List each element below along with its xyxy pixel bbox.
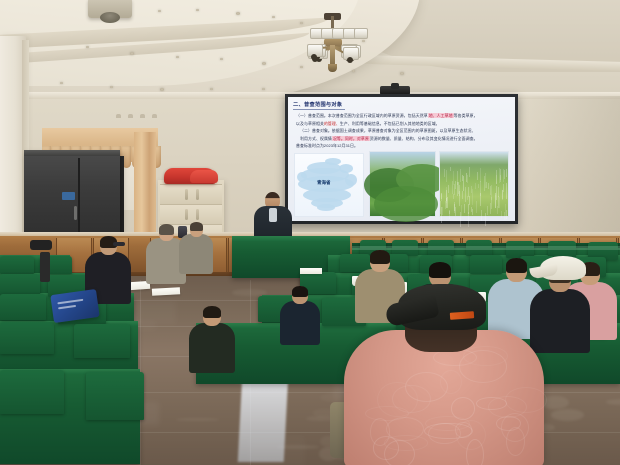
head-table-top <box>232 236 350 241</box>
attendee-photographer-hair <box>190 222 203 231</box>
grass-blade <box>486 182 487 188</box>
grass-blade <box>506 183 507 198</box>
grass-blade <box>448 185 449 193</box>
chandelier-bulb <box>347 57 353 63</box>
grass-blade <box>453 171 454 185</box>
jacket-texture <box>455 422 473 437</box>
grass-blade <box>447 197 448 208</box>
attendee-back-2-body <box>189 323 235 373</box>
attendee-white-cap-body <box>530 289 590 353</box>
grass-blade <box>455 207 456 216</box>
grass-blade <box>496 170 497 185</box>
conference-room-photo: 二、普查范围与对象 （一）普查范围。本次普查范围为全区行政区域内的草原资源，包括… <box>0 0 620 465</box>
map-region <box>345 174 357 186</box>
grass-blade <box>478 184 479 188</box>
grass-blade <box>464 204 465 214</box>
grass-blade <box>441 194 442 201</box>
grass-blade <box>469 167 470 177</box>
glasses-icon <box>113 242 125 246</box>
grass-blade <box>475 183 476 189</box>
tall-grass-field-photo <box>439 151 509 217</box>
green-chair-left <box>74 324 130 358</box>
grass-blade <box>476 201 477 212</box>
attendee-mid-2-hair <box>429 262 451 278</box>
grass-blade <box>498 187 499 197</box>
filing-drawer-handle <box>185 209 188 220</box>
slide-text-line: 普查标准时点为2023年12月31日。 <box>296 144 358 148</box>
filing-drawer-handle <box>196 189 199 200</box>
grass-blade <box>490 186 491 195</box>
grass-blade <box>461 205 462 216</box>
jacket-texture <box>377 382 417 418</box>
green-chair-left <box>0 274 40 296</box>
grass-blade <box>497 206 498 214</box>
slide-heading: 二、普查范围与对象 <box>293 101 342 108</box>
grass-blade <box>472 209 473 216</box>
table-glow <box>352 246 620 250</box>
grass-blade <box>444 169 445 177</box>
paper-documents <box>152 287 180 295</box>
chandelier-bottom-finial <box>328 64 337 72</box>
attendee-photographer-body <box>179 234 213 274</box>
grass-blade <box>468 187 469 197</box>
grass-blade <box>477 172 478 181</box>
grass-blade <box>466 173 467 182</box>
grass-blade <box>469 196 470 204</box>
jacket-texture <box>459 350 507 382</box>
grass-blade <box>501 211 502 219</box>
grass-blade <box>455 181 456 189</box>
grass-blade <box>459 185 460 196</box>
grass-blade <box>506 169 507 177</box>
green-chair-left <box>0 370 64 414</box>
wardrobe-top <box>24 150 120 156</box>
grass-blade <box>442 207 443 215</box>
slide-text-line: 利用方式、权属情况等。同时，对草原资源的数量、质量、结构、分布及其变化情况进行全… <box>300 137 478 141</box>
map-region <box>317 204 335 211</box>
wall-hook <box>116 114 121 118</box>
grass-blade <box>504 212 505 220</box>
floor-reflection-highlight <box>238 376 289 462</box>
grass-blade <box>480 193 481 207</box>
attendee-mid-3-hair <box>506 258 527 273</box>
floor-reflection <box>135 321 157 330</box>
green-chair <box>470 255 502 274</box>
grass-blade <box>484 176 485 191</box>
filing-drawer <box>160 184 222 204</box>
jacket-texture <box>384 440 416 465</box>
grass-blade <box>449 211 450 219</box>
floor-vein <box>551 409 584 421</box>
grass-blade <box>463 176 464 191</box>
green-chair-left <box>0 256 34 274</box>
grass-blade <box>491 185 492 201</box>
green-chair-left <box>86 372 144 420</box>
grass-blade <box>485 213 486 227</box>
green-chair-left <box>0 294 46 320</box>
grass-blade <box>462 191 463 199</box>
grass-blade <box>500 169 501 182</box>
wall-hook <box>128 114 133 118</box>
wardrobe-handle <box>74 206 77 220</box>
chandelier-bulb <box>311 54 317 60</box>
chandelier-shade-upper <box>354 28 368 39</box>
wardrobe-sticker <box>62 192 75 200</box>
grass-blade <box>446 170 447 182</box>
map-region <box>325 158 341 165</box>
wall-hook <box>152 114 157 118</box>
grass-blade <box>487 206 488 216</box>
filing-drawer-handle <box>185 189 188 200</box>
tripod-leg <box>40 252 50 282</box>
projector-lens-icon <box>100 12 120 23</box>
green-chair-left <box>0 322 54 354</box>
map-region <box>297 172 307 182</box>
slide-heading-underline <box>293 109 345 110</box>
paper-documents <box>300 268 322 274</box>
filing-drawer <box>160 204 222 224</box>
grass-blade <box>454 202 455 214</box>
jacket-texture <box>466 439 484 465</box>
province-map-outline: 青海省 <box>294 153 364 217</box>
attendee-mid-1-hair <box>370 250 390 264</box>
map-region <box>339 164 353 173</box>
map-label: 青海省 <box>317 180 331 186</box>
grass-blade <box>468 212 469 227</box>
attendee-left-2-hair <box>159 224 174 235</box>
jacket-texture <box>440 370 462 394</box>
grass-blade <box>480 168 481 182</box>
slide-text-line: 以及与草原相关的管理、生产、利用等基础信息，不包括已划入其他地类的区域。 <box>296 122 440 126</box>
grass-blade <box>490 203 491 214</box>
grass-blade <box>503 184 504 193</box>
grass-blade <box>460 169 461 182</box>
attendee-back-2-hair <box>203 306 221 318</box>
attendee-back-1-hair <box>292 286 308 297</box>
jacket-texture <box>370 418 391 446</box>
wall-hook <box>140 114 145 118</box>
grass-blade <box>503 169 504 182</box>
slide-text-line: （一）普查范围。本次普查范围为全区行政区域内的草原资源，包括天然草地、人工草地等… <box>296 114 478 118</box>
jacket-texture <box>506 427 525 456</box>
attendee-back-1-body <box>280 301 320 345</box>
jacket-texture <box>505 387 548 413</box>
filing-drawer-handle <box>196 209 199 220</box>
grass-blade <box>472 189 473 205</box>
grass-blade <box>468 204 469 214</box>
slide-content: 二、普查范围与对象 （一）普查范围。本次普查范围为全区行政区域内的草原资源，包括… <box>293 101 510 217</box>
screen-roller-knob <box>391 83 399 89</box>
speaker-shirt <box>269 208 277 222</box>
grass-blade <box>450 167 451 171</box>
grass-blade <box>506 210 507 219</box>
grass-blade <box>499 197 500 208</box>
slide-text-line: （二）普查对象。依据国土调查成果，草原普查对象为全区范围内的草原图斑，以及草原生… <box>300 129 476 133</box>
red-cloth-bundle-second <box>190 170 218 183</box>
camera-body <box>30 240 52 250</box>
grassland-hillside-photo <box>369 151 436 217</box>
grass-blade <box>481 210 482 221</box>
grass-blade <box>440 201 441 214</box>
jacket-texture <box>451 397 475 419</box>
